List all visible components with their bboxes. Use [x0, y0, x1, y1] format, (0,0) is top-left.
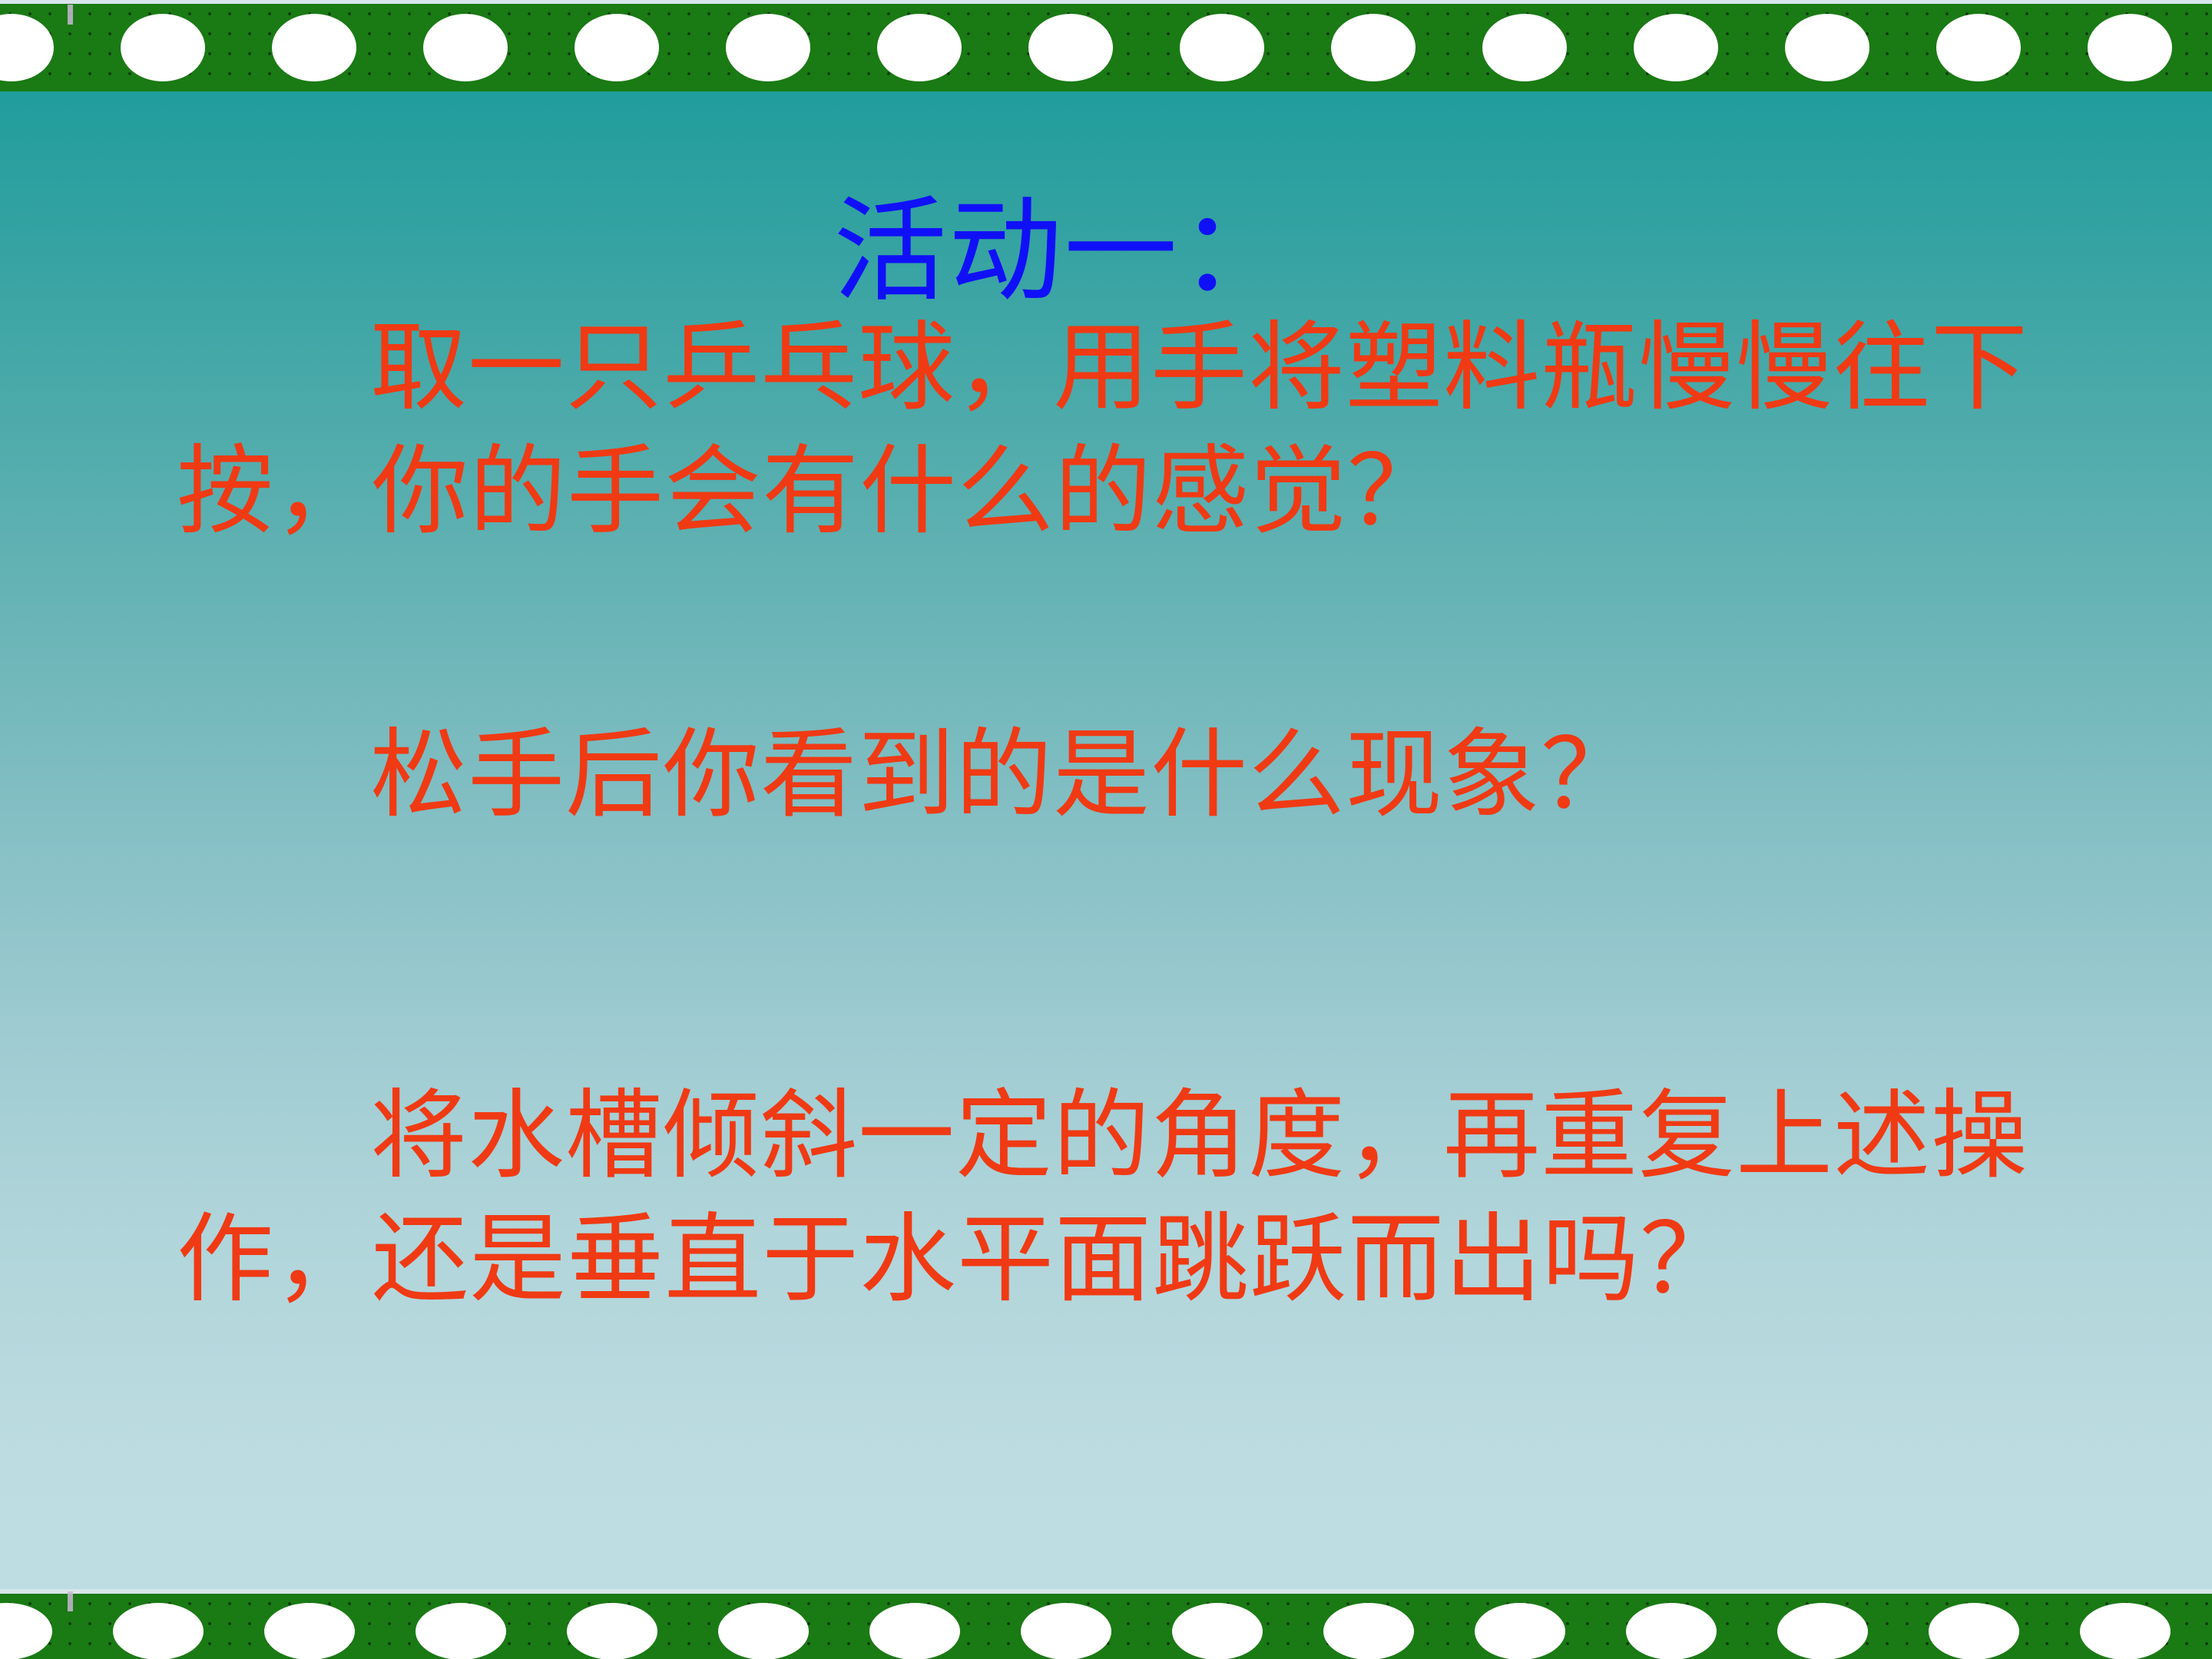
film-hole-top — [726, 14, 810, 81]
film-hole-bottom — [1475, 1603, 1565, 1659]
film-hole-bottom — [567, 1603, 657, 1659]
activity-question-2: 松手后你看到的是什么现象？ — [177, 713, 2058, 836]
film-strip-bottom-border — [0, 1594, 2212, 1659]
activity-question-3: 将水槽倾斜一定的角度，再重复上述操作，还是垂直于水平面跳跃而出吗？ — [177, 1074, 2058, 1322]
film-hole-bottom — [2080, 1603, 2171, 1659]
film-hole-top — [272, 14, 356, 81]
film-hole-top — [0, 14, 54, 81]
film-hole-bottom — [264, 1603, 355, 1659]
film-hole-bottom — [1172, 1603, 1263, 1659]
film-hole-top — [2088, 14, 2172, 81]
film-strip-top-border — [0, 4, 2212, 91]
film-hole-top — [1936, 14, 2021, 81]
film-hole-top — [1634, 14, 1718, 81]
film-hole-bottom — [1021, 1603, 1111, 1659]
slide-content: 活动一： 取一只乒乓球，用手将塑料瓶慢慢往下按，你的手会有什么的感觉？ 松手后你… — [0, 91, 2212, 1589]
artifact-speck-bottom — [68, 1591, 73, 1611]
page-title: 活动一： — [0, 194, 2212, 308]
film-hole-bottom — [416, 1603, 506, 1659]
artifact-speck-top — [68, 5, 73, 25]
film-hole-bottom — [113, 1603, 204, 1659]
film-hole-bottom — [1626, 1603, 1717, 1659]
presentation-slide: 活动一： 取一只乒乓球，用手将塑料瓶慢慢往下按，你的手会有什么的感觉？ 松手后你… — [0, 0, 2212, 1659]
film-hole-top — [1482, 14, 1567, 81]
film-hole-top — [1785, 14, 1869, 81]
film-hole-top — [575, 14, 659, 81]
film-hole-bottom — [0, 1603, 52, 1659]
film-hole-top — [121, 14, 205, 81]
film-hole-bottom — [1929, 1603, 2019, 1659]
activity-question-1: 取一只乒乓球，用手将塑料瓶慢慢往下按，你的手会有什么的感觉？ — [177, 306, 2058, 554]
film-hole-top — [877, 14, 962, 81]
film-hole-bottom — [1323, 1603, 1414, 1659]
film-hole-top — [423, 14, 508, 81]
film-hole-bottom — [1777, 1603, 1868, 1659]
film-hole-top — [1180, 14, 1264, 81]
film-hole-top — [1331, 14, 1416, 81]
film-hole-bottom — [718, 1603, 809, 1659]
film-hole-bottom — [869, 1603, 960, 1659]
film-hole-top — [1028, 14, 1113, 81]
